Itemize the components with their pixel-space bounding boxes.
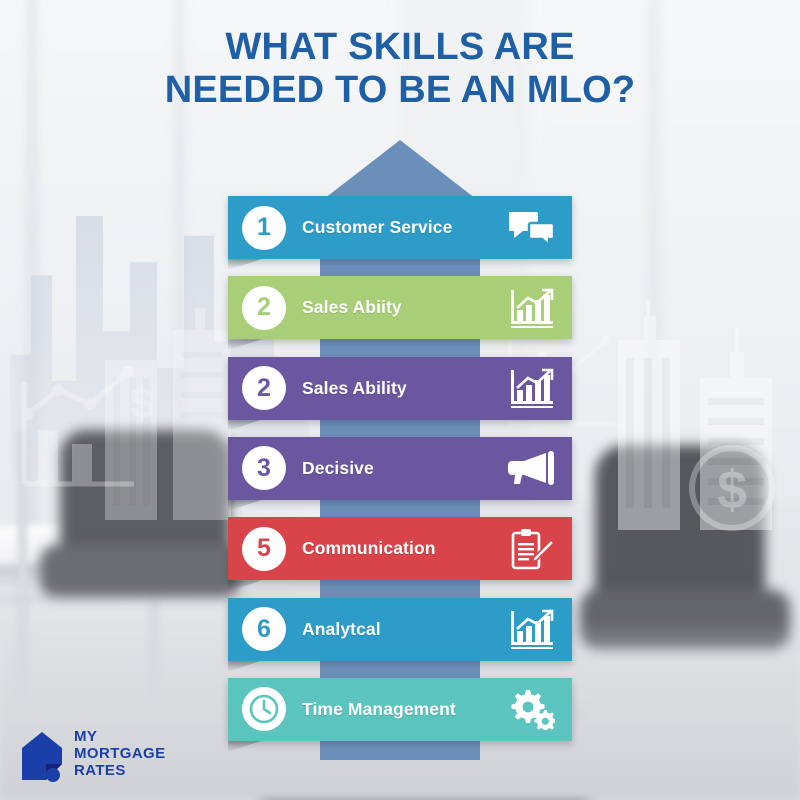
clock-icon: [242, 687, 286, 731]
skill-row[interactable]: 6Analytcal: [228, 598, 572, 661]
skill-row[interactable]: 2Sales Ability: [228, 357, 572, 420]
skill-row[interactable]: 5Communication: [228, 517, 572, 580]
skill-number-badge: 5: [242, 527, 286, 571]
skill-label: Sales Ability: [302, 378, 504, 399]
brand-logo-line-2: MORTGAGE: [74, 745, 166, 762]
skill-label: Decisive: [302, 458, 504, 479]
skill-number-badge: 1: [242, 206, 286, 250]
skill-row[interactable]: Time Management: [228, 678, 572, 741]
skill-label: Customer Service: [302, 217, 504, 238]
brand-logo-line-1: MY: [74, 728, 166, 745]
brand-logo-line-3: RATES: [74, 762, 166, 779]
skill-row[interactable]: 1Customer Service: [228, 196, 572, 259]
skill-number-badge: 6: [242, 607, 286, 651]
skill-label: Communication: [302, 538, 504, 559]
megaphone-icon: [504, 451, 560, 485]
growth-chart-icon: [504, 609, 560, 649]
gears-icon: [504, 688, 560, 730]
growth-chart-icon: [504, 288, 560, 328]
skill-label: Sales Abiity: [302, 297, 504, 318]
skill-label: Time Management: [302, 699, 504, 720]
skill-row[interactable]: 3Decisive: [228, 437, 572, 500]
skill-row[interactable]: 2Sales Abiity: [228, 276, 572, 339]
skill-number-badge: 3: [242, 446, 286, 490]
brand-logo-text: MY MORTGAGE RATES: [74, 728, 166, 779]
growth-chart-icon: [504, 368, 560, 408]
skills-list: 1Customer Service 2Sales Abiity 2Sales A…: [0, 0, 800, 800]
clipboard-pen-icon: [504, 527, 560, 571]
house-dot-logo-icon: [18, 730, 64, 787]
skill-label: Analytcal: [302, 619, 504, 640]
speech-bubbles-icon: [504, 210, 560, 246]
skill-number-badge: 2: [242, 286, 286, 330]
brand-logo[interactable]: MY MORTGAGE RATES: [18, 728, 166, 787]
skill-number-badge: 2: [242, 366, 286, 410]
